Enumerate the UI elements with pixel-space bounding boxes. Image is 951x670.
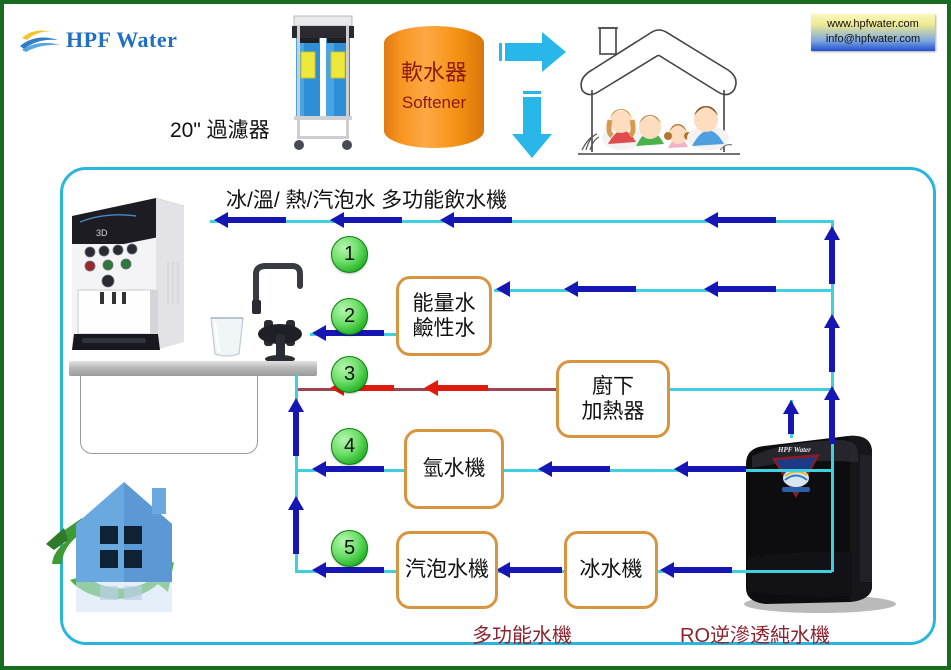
step-circle-5[interactable]: 5 (331, 530, 368, 567)
chilled-water-label: 冰水機 (580, 557, 643, 582)
under-sink-cabinet-outline (80, 376, 258, 454)
riser-arrow-low (824, 386, 840, 444)
flow-arrow-row1-b (330, 212, 402, 228)
step-circle-2[interactable]: 2 (331, 298, 368, 335)
pipe-row-3-feed (670, 388, 832, 391)
flow-arrow-row2-head (496, 281, 510, 297)
riser-arrow-mid (824, 314, 840, 372)
module-under-sink-heater[interactable]: 廚下 加熱器 (556, 360, 670, 438)
twin-filter-housing-icon (288, 12, 358, 162)
flow-arrow-row5-in (660, 562, 732, 578)
footer-label-multifunction: 多功能水機 (472, 619, 572, 648)
energy-water-line2: 鹼性水 (413, 316, 476, 341)
riser-left-arrow-bottom (288, 496, 304, 554)
kitchen-counter-icon (69, 361, 317, 376)
step-circle-3[interactable]: 3 (331, 356, 368, 393)
energy-water-line1: 能量水 (413, 291, 476, 316)
pipe-row-2 (494, 289, 832, 292)
softener-label-en: Softener (402, 93, 466, 113)
email-text: info@hpfwater.com (815, 32, 931, 47)
flow-arrow-row2-a (564, 281, 636, 297)
svg-text:3D: 3D (96, 228, 108, 238)
ro-purifier-icon: HPF Water (732, 432, 904, 614)
house-with-family-icon (564, 18, 754, 166)
ro-top-feed-arrow (783, 400, 799, 434)
module-energy-water[interactable]: 能量水 鹼性水 (396, 276, 492, 356)
kitchen-faucet-icon (240, 260, 320, 362)
step-circle-4[interactable]: 4 (331, 428, 368, 465)
diagram-title: 冰/溫/ 熱/汽泡水 多功能飲水機 (226, 184, 507, 214)
heater-line2: 加熱器 (582, 399, 645, 424)
step-circle-1[interactable]: 1 (331, 236, 368, 273)
eco-house-recycle-icon (32, 472, 192, 624)
flow-arrow-row1-d (704, 212, 776, 228)
flow-arrow-row2-b (704, 281, 776, 297)
module-chilled-water[interactable]: 冰水機 (564, 531, 658, 609)
arrow-right-icon (496, 32, 566, 77)
softener-label-cn: 軟水器 (401, 61, 467, 85)
sun-wave-icon (18, 26, 64, 54)
module-hydrogen-water[interactable]: 氫水機 (404, 429, 504, 509)
flow-arrow-row3-b (424, 380, 488, 396)
diagram-canvas: HPF Water www.hpfwater.com info@hpfwater… (0, 0, 951, 670)
arrow-down-icon (512, 88, 552, 163)
countertop-water-dispenser-icon: 3D (64, 192, 189, 360)
contact-info-box: www.hpfwater.com info@hpfwater.com (811, 14, 935, 51)
riser-left-arrow-top (288, 398, 304, 456)
water-softener-tank: 軟水器 Softener (384, 26, 484, 148)
flow-arrow-row5-mid (496, 562, 562, 578)
brand-logo: HPF Water (18, 26, 177, 54)
filter-label: 20" 過濾器 (170, 114, 270, 144)
riser-arrow-top (824, 226, 840, 284)
svg-text:HPF Water: HPF Water (777, 446, 811, 454)
flow-arrow-row1-a (214, 212, 286, 228)
flow-arrow-row4-b (674, 461, 746, 477)
flow-arrow-row1-c (440, 212, 512, 228)
flow-arrow-row4-a (538, 461, 610, 477)
module-sparkling-water[interactable]: 汽泡水機 (396, 531, 498, 609)
heater-line1: 廚下 (592, 374, 634, 399)
brand-name: HPF Water (66, 29, 177, 51)
sparkling-water-label: 汽泡水機 (405, 557, 489, 582)
footer-label-ro: RO逆滲透純水機 (680, 619, 830, 648)
hydrogen-water-label: 氫水機 (423, 456, 486, 481)
website-text: www.hpfwater.com (815, 17, 931, 32)
